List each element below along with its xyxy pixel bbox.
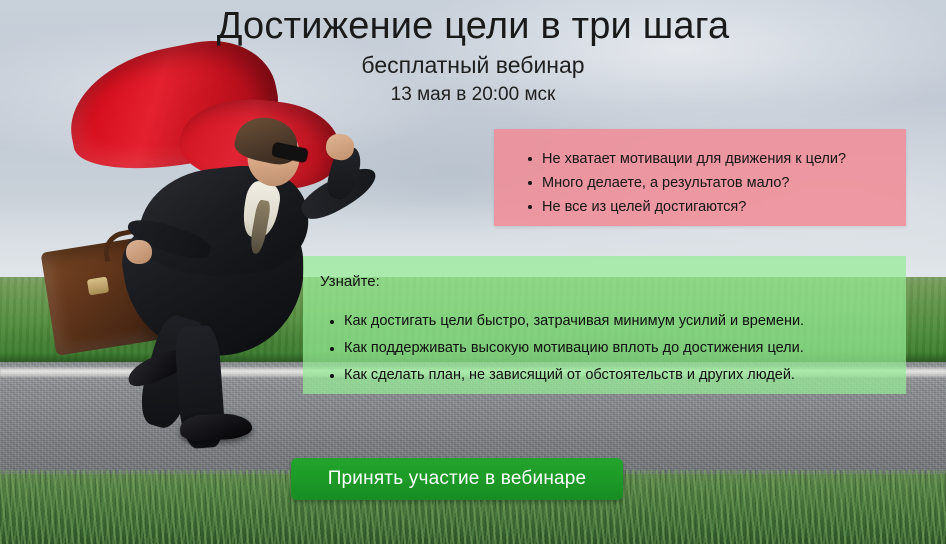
briefcase-latch <box>87 277 109 296</box>
list-item: Как достигать цели быстро, затрачивая ми… <box>330 308 906 335</box>
list-item: Не все из целей достигаются? <box>528 195 906 219</box>
benefits-list: Как достигать цели быстро, затрачивая ми… <box>303 256 906 389</box>
list-item: Много делаете, а результатов мало? <box>528 171 906 195</box>
list-item: Не хватает мотивации для движения к цели… <box>528 147 906 171</box>
pain-points-box: Не хватает мотивации для движения к цели… <box>494 129 906 226</box>
benefits-box: Узнайте: Как достигать цели быстро, затр… <box>303 256 906 394</box>
back-hand <box>126 240 152 264</box>
pain-points-list: Не хватает мотивации для движения к цели… <box>494 129 906 219</box>
landing-page: Достижение цели в три шага бесплатный ве… <box>0 0 946 544</box>
benefits-label: Узнайте: <box>320 272 380 292</box>
list-item: Как поддерживать высокую мотивацию вплот… <box>330 335 906 362</box>
front-shoe <box>179 412 252 442</box>
list-item: Как сделать план, не зависящий от обстоя… <box>330 362 906 389</box>
join-webinar-button[interactable]: Принять участие в вебинаре <box>291 458 623 500</box>
